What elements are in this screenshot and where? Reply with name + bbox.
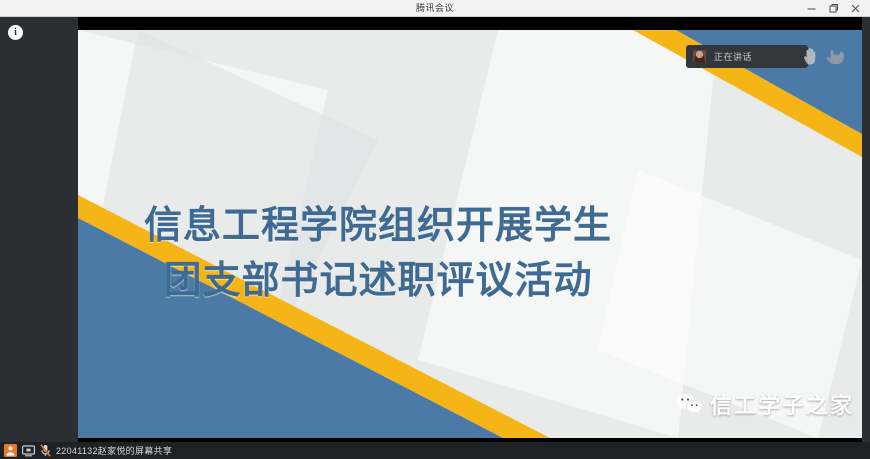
window-controls (800, 0, 866, 16)
minimize-button[interactable] (800, 0, 822, 16)
info-icon[interactable]: i (8, 25, 23, 40)
shared-screen-stage[interactable]: 信息工程学院组织开展学生 团支部书记述职评议活动 信工学子之家 正在讲话 (78, 17, 862, 442)
wechat-icon (675, 392, 703, 416)
status-bar: 22041132赵家悦的屏幕共享 (0, 442, 870, 459)
speaking-indicator[interactable]: 正在讲话 (686, 45, 808, 68)
tencent-meeting-window: 腾讯会议 i (0, 0, 870, 459)
status-bar-text: 22041132赵家悦的屏幕共享 (56, 444, 172, 457)
maximize-restore-button[interactable] (822, 0, 844, 16)
left-rail: i (0, 17, 78, 442)
window-title: 腾讯会议 (0, 0, 870, 16)
speaking-indicator-label: 正在讲话 (714, 50, 752, 63)
window-title-bar: 腾讯会议 (0, 0, 870, 17)
screen-share-icon[interactable] (22, 445, 35, 457)
microphone-muted-icon[interactable] (40, 444, 51, 457)
right-rail (862, 17, 870, 442)
slide-title-line-2: 团支部书记述职评议活动 (78, 253, 678, 308)
close-button[interactable] (844, 0, 866, 16)
participant-icon[interactable] (4, 444, 17, 457)
reaction-icons[interactable] (800, 43, 852, 69)
participant-avatar (693, 50, 706, 63)
clap-hand-icon[interactable] (824, 45, 846, 67)
watermark-text: 信工学子之家 (710, 388, 854, 420)
info-icon-label: i (14, 28, 17, 38)
raise-hand-icon[interactable] (800, 45, 822, 67)
presentation-slide: 信息工程学院组织开展学生 团支部书记述职评议活动 信工学子之家 (78, 30, 862, 438)
slide-title-line-1: 信息工程学院组织开展学生 (78, 198, 678, 253)
watermark: 信工学子之家 (675, 388, 854, 420)
slide-title: 信息工程学院组织开展学生 团支部书记述职评议活动 (78, 198, 678, 308)
